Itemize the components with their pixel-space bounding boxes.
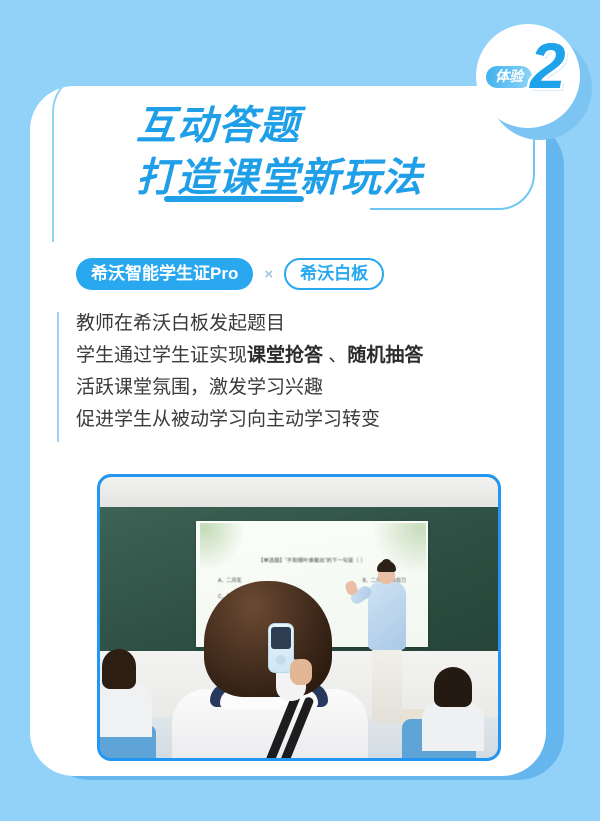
photo-teacher-body (368, 582, 406, 650)
body-line-2-pre: 学生通过学生证实现 (76, 345, 247, 366)
body-text-block: 教师在希沃白板发起题目 学生通过学生证实现课堂抢答 、随机抽答 活跃课堂氛围，激… (76, 308, 516, 436)
photo-student-hand (290, 659, 312, 685)
photo-wall-top (100, 477, 498, 509)
tag-separator-icon: × (264, 266, 273, 283)
poster-canvas: 体验 2 互动答题 打造课堂新玩法 希沃智能学生证Pro × 希沃白板 教师在希… (0, 0, 600, 821)
photo-left-student-body (97, 683, 152, 737)
tag-partner: 希沃白板 (284, 258, 384, 290)
photo-left-student-hair (102, 649, 136, 689)
body-line-2-bold-2: 随机抽答 (347, 345, 423, 366)
photo-teacher-legs (372, 645, 402, 723)
photo-right-student-body (422, 701, 484, 751)
classroom-photo: 【单选题】“不知细叶谁裁出”的下一句是（ ） A、二月花 B、二月春风似剪刀 C… (97, 474, 501, 761)
experience-badge: 体验 2 (472, 22, 592, 142)
body-line-1: 教师在希沃白板发起题目 (76, 308, 516, 340)
photo-device-screen (271, 627, 291, 649)
tag-product: 希沃智能学生证Pro (76, 258, 253, 290)
title-underline (164, 196, 304, 202)
badge-label: 体验 (486, 66, 532, 88)
badge-number: 2 (530, 34, 566, 98)
body-line-2-mid: 、 (323, 345, 347, 366)
photo-right-student-hair (434, 667, 472, 707)
body-left-rule (57, 312, 59, 442)
page-title: 互动答题 打造课堂新玩法 (136, 100, 423, 204)
body-line-2-bold-1: 课堂抢答 (247, 345, 323, 366)
body-line-3: 活跃课堂氛围，激发学习兴趣 (76, 372, 516, 404)
photo-device-button (276, 655, 286, 665)
photo-teacher-hair-bun (382, 559, 391, 566)
body-line-4: 促进学生从被动学习向主动学习转变 (76, 404, 516, 436)
product-tags: 希沃智能学生证Pro × 希沃白板 (76, 258, 384, 290)
body-line-2: 学生通过学生证实现课堂抢答 、随机抽答 (76, 340, 516, 372)
title-line-1: 互动答题 (136, 100, 423, 152)
